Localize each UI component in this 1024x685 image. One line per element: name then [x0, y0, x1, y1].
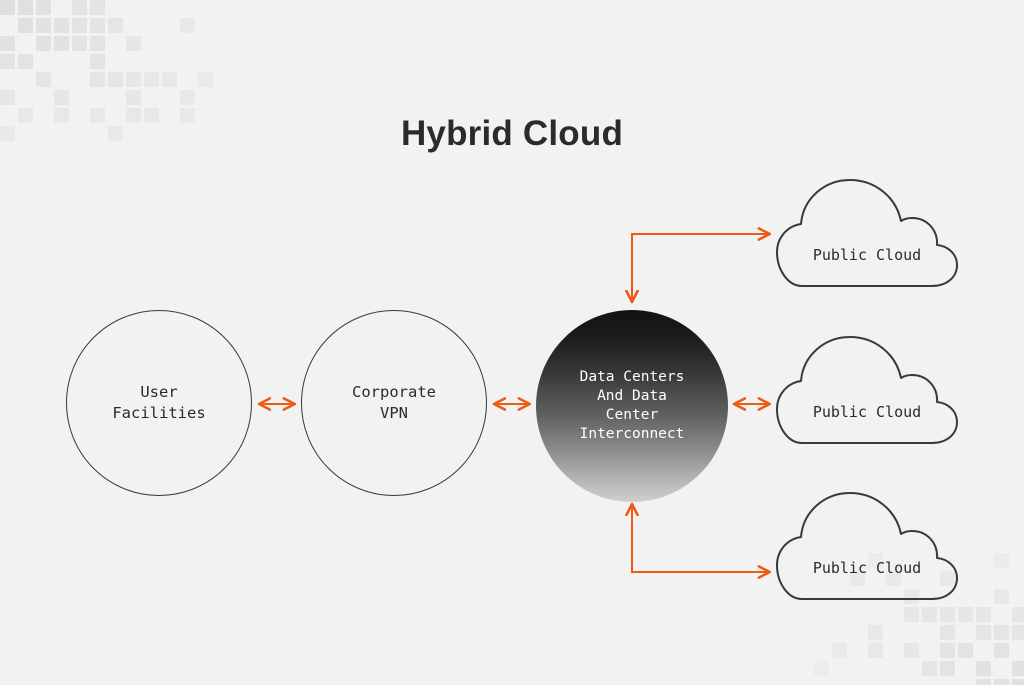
decorative-pixel — [832, 643, 847, 658]
node-corporate-vpn[interactable]: Corporate VPN — [301, 310, 487, 496]
label-line: Data Centers — [580, 369, 685, 385]
cloud-icon — [772, 168, 962, 298]
decorative-pixel — [976, 661, 991, 676]
decorative-pixel — [162, 72, 177, 87]
decorative-pixel — [994, 553, 1009, 568]
decorative-pixel — [36, 0, 51, 15]
decorative-pixel — [108, 18, 123, 33]
connector-data-centers-to-cloud-top — [632, 234, 770, 302]
decorative-pixel — [1012, 679, 1024, 685]
decorative-pixel — [940, 643, 955, 658]
connector-cloud-bottom-to-data-centers — [632, 504, 770, 572]
node-corporate-vpn-label: Corporate VPN — [346, 382, 442, 424]
decorative-pixel — [90, 54, 105, 69]
label-line: Facilities — [112, 404, 205, 422]
decorative-pixel — [994, 643, 1009, 658]
decorative-pixel — [126, 90, 141, 105]
node-public-cloud-top-label: Public Cloud — [772, 246, 962, 264]
decorative-pixel — [180, 90, 195, 105]
decorative-pixel — [18, 0, 33, 15]
cloud-icon — [772, 481, 962, 611]
decorative-pixel — [198, 72, 213, 87]
decorative-pixel — [994, 679, 1009, 685]
decorative-pixel — [90, 72, 105, 87]
decorative-pixel — [0, 0, 15, 15]
page-title: Hybrid Cloud — [0, 114, 1024, 154]
decorative-pixel — [18, 18, 33, 33]
decorative-pixel — [126, 72, 141, 87]
decorative-pixel — [868, 643, 883, 658]
decorative-pixel — [994, 625, 1009, 640]
decorative-pixel — [18, 54, 33, 69]
decorative-pixel — [958, 643, 973, 658]
label-line: Corporate — [352, 383, 436, 401]
decorative-pixel — [868, 625, 883, 640]
decorative-pixel — [1012, 661, 1024, 676]
decorative-pixel — [180, 18, 195, 33]
diagram-canvas: Hybrid Cloud — [0, 0, 1024, 685]
decorative-pixel — [1012, 625, 1024, 640]
node-user-facilities[interactable]: User Facilities — [66, 310, 252, 496]
decorative-pixel — [940, 625, 955, 640]
decorative-pixel — [54, 90, 69, 105]
decorative-pixel — [994, 589, 1009, 604]
node-data-centers-label: Data Centers And Data Center Interconnec… — [574, 368, 691, 444]
decorative-pixel — [904, 643, 919, 658]
node-data-centers-and-data-center-interconnect[interactable]: Data Centers And Data Center Interconnec… — [536, 310, 728, 502]
decorative-pixel — [72, 18, 87, 33]
decorative-pixel — [72, 36, 87, 51]
label-line: VPN — [380, 404, 408, 422]
decorative-pixel — [976, 625, 991, 640]
decorative-pixel — [0, 36, 15, 51]
label-line: Interconnect — [580, 426, 685, 442]
decorative-pixel — [36, 72, 51, 87]
cloud-icon — [772, 325, 962, 455]
decorative-pixel — [976, 607, 991, 622]
decorative-pixel — [0, 90, 15, 105]
node-public-cloud-bottom[interactable]: Public Cloud — [772, 481, 962, 611]
decorative-pixel — [126, 36, 141, 51]
decorative-pixel — [72, 0, 87, 15]
decorative-pixel — [108, 72, 123, 87]
node-public-cloud-middle-label: Public Cloud — [772, 403, 962, 421]
decorative-pixel — [1012, 607, 1024, 622]
decorative-pixel — [0, 54, 15, 69]
label-line: User — [140, 383, 177, 401]
decorative-pixel — [940, 661, 955, 676]
decorative-pixel — [144, 72, 159, 87]
node-user-facilities-label: User Facilities — [106, 382, 211, 424]
decorative-pixel — [976, 679, 991, 685]
decorative-pixel — [36, 36, 51, 51]
decorative-pixel — [90, 36, 105, 51]
decorative-pixel — [814, 661, 829, 676]
node-public-cloud-bottom-label: Public Cloud — [772, 559, 962, 577]
node-public-cloud-middle[interactable]: Public Cloud — [772, 325, 962, 455]
decorative-pixel — [90, 18, 105, 33]
label-line: And Data — [597, 388, 667, 404]
decorative-pixel — [54, 18, 69, 33]
decorative-pixel — [90, 0, 105, 15]
decorative-pixel — [54, 36, 69, 51]
node-public-cloud-top[interactable]: Public Cloud — [772, 168, 962, 298]
label-line: Center — [606, 407, 658, 423]
decorative-pixel — [36, 18, 51, 33]
decorative-pixel — [922, 661, 937, 676]
